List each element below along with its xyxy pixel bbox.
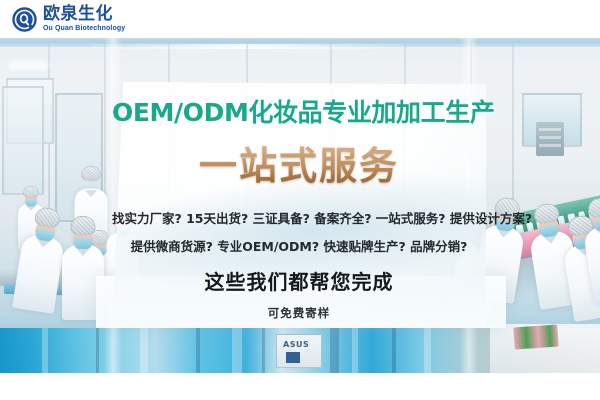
equipment-panel: ASUS: [276, 334, 322, 368]
fluorescent-tube-icon: [10, 63, 46, 67]
banner-closing-statement: 这些我们都帮您完成: [112, 266, 486, 295]
banner-free-sample-note: 可免费寄样: [112, 305, 486, 321]
wall-seam: [512, 42, 514, 212]
page-root: ASUS OEM/ODM化妆品专业加加工生产 一站式服务 找实力厂家? 15天出…: [0, 0, 600, 400]
brand-text: 欧泉生化 Ou Quan Biotechnology: [43, 6, 125, 32]
ceiling-light-highlight: [90, 44, 400, 49]
banner-subline: 一站式服务: [112, 135, 486, 190]
equipment-label: ASUS: [283, 340, 309, 349]
brand-name-cn: 欧泉生化: [43, 6, 125, 23]
product-package: [513, 324, 558, 349]
brand-name-en: Ou Quan Biotechnology: [43, 25, 125, 32]
brand-logo[interactable]: 欧泉生化 Ou Quan Biotechnology: [12, 6, 125, 32]
page-footer: [0, 373, 600, 400]
banner-headline: OEM/ODM化妆品专业加加工生产: [112, 93, 486, 129]
cleanroom-door-left: [2, 86, 44, 195]
banner-feature-line-2: 提供微商货源? 专业OEM/ODM? 快速贴牌生产? 品牌分销?: [112, 236, 486, 255]
site-header: 欧泉生化 Ou Quan Biotechnology: [0, 0, 600, 38]
banner-feature-line-1: 找实力厂家? 15天出货? 三证具备? 备案齐全? 一站式服务? 提供设计方案?: [112, 208, 486, 227]
banner-copy: OEM/ODM化妆品专业加加工生产 一站式服务 找实力厂家? 15天出货? 三证…: [112, 82, 486, 327]
equipment-cabinet: [536, 122, 564, 156]
circled-q-logo-icon: [12, 7, 37, 32]
equipment-screen: [286, 352, 300, 363]
